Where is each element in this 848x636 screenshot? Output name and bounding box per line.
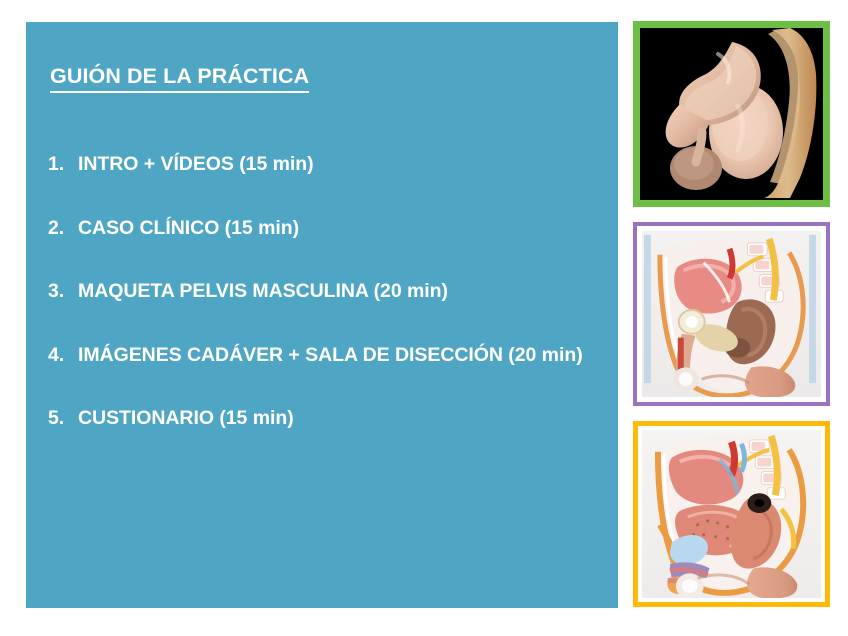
male-pelvis-sagittal-structures-illustration — [642, 430, 821, 598]
list-item-number: 3. — [48, 279, 72, 304]
list-item-number: 1. — [48, 152, 72, 177]
male-pelvis-sagittal-illustration — [642, 231, 821, 397]
list-item-label: IMÁGENES CADÁVER + SALA DE DISECCIÓN (20… — [78, 343, 604, 368]
list-item: 3. MAQUETA PELVIS MASCULINA (20 min) — [48, 279, 604, 304]
list-item-label: CASO CLÍNICO (15 min) — [78, 216, 604, 241]
list-item: 1. INTRO + VÍDEOS (15 min) — [48, 152, 604, 177]
list-item-number: 4. — [48, 343, 72, 368]
presentation-slide: GUIÓN DE LA PRÁCTICA 1. INTRO + VÍDEOS (… — [0, 0, 848, 636]
photo-inner — [642, 430, 821, 598]
photo-inner — [642, 231, 821, 397]
list-item-label: MAQUETA PELVIS MASCULINA (20 min) — [78, 279, 604, 304]
list-item-number: 5. — [48, 406, 72, 431]
cadaver-dissection-illustration — [640, 28, 823, 200]
content-panel: GUIÓN DE LA PRÁCTICA 1. INTRO + VÍDEOS (… — [26, 22, 618, 608]
page-title: GUIÓN DE LA PRÁCTICA — [50, 65, 309, 93]
male-pelvis-model-sagittal-orange — [633, 421, 830, 607]
list-item: 4. IMÁGENES CADÁVER + SALA DE DISECCIÓN … — [48, 343, 604, 368]
list-item: 5. CUSTIONARIO (15 min) — [48, 406, 604, 431]
male-pelvis-model-sagittal-purple — [633, 222, 830, 406]
list-item-number: 2. — [48, 216, 72, 241]
agenda-list: 1. INTRO + VÍDEOS (15 min) 2. CASO CLÍNI… — [48, 152, 604, 431]
photo-inner — [640, 28, 823, 200]
list-item-label: CUSTIONARIO (15 min) — [78, 406, 604, 431]
list-item-label: INTRO + VÍDEOS (15 min) — [78, 152, 604, 177]
cadaver-male-genitalia-photo — [633, 21, 830, 207]
list-item: 2. CASO CLÍNICO (15 min) — [48, 216, 604, 241]
